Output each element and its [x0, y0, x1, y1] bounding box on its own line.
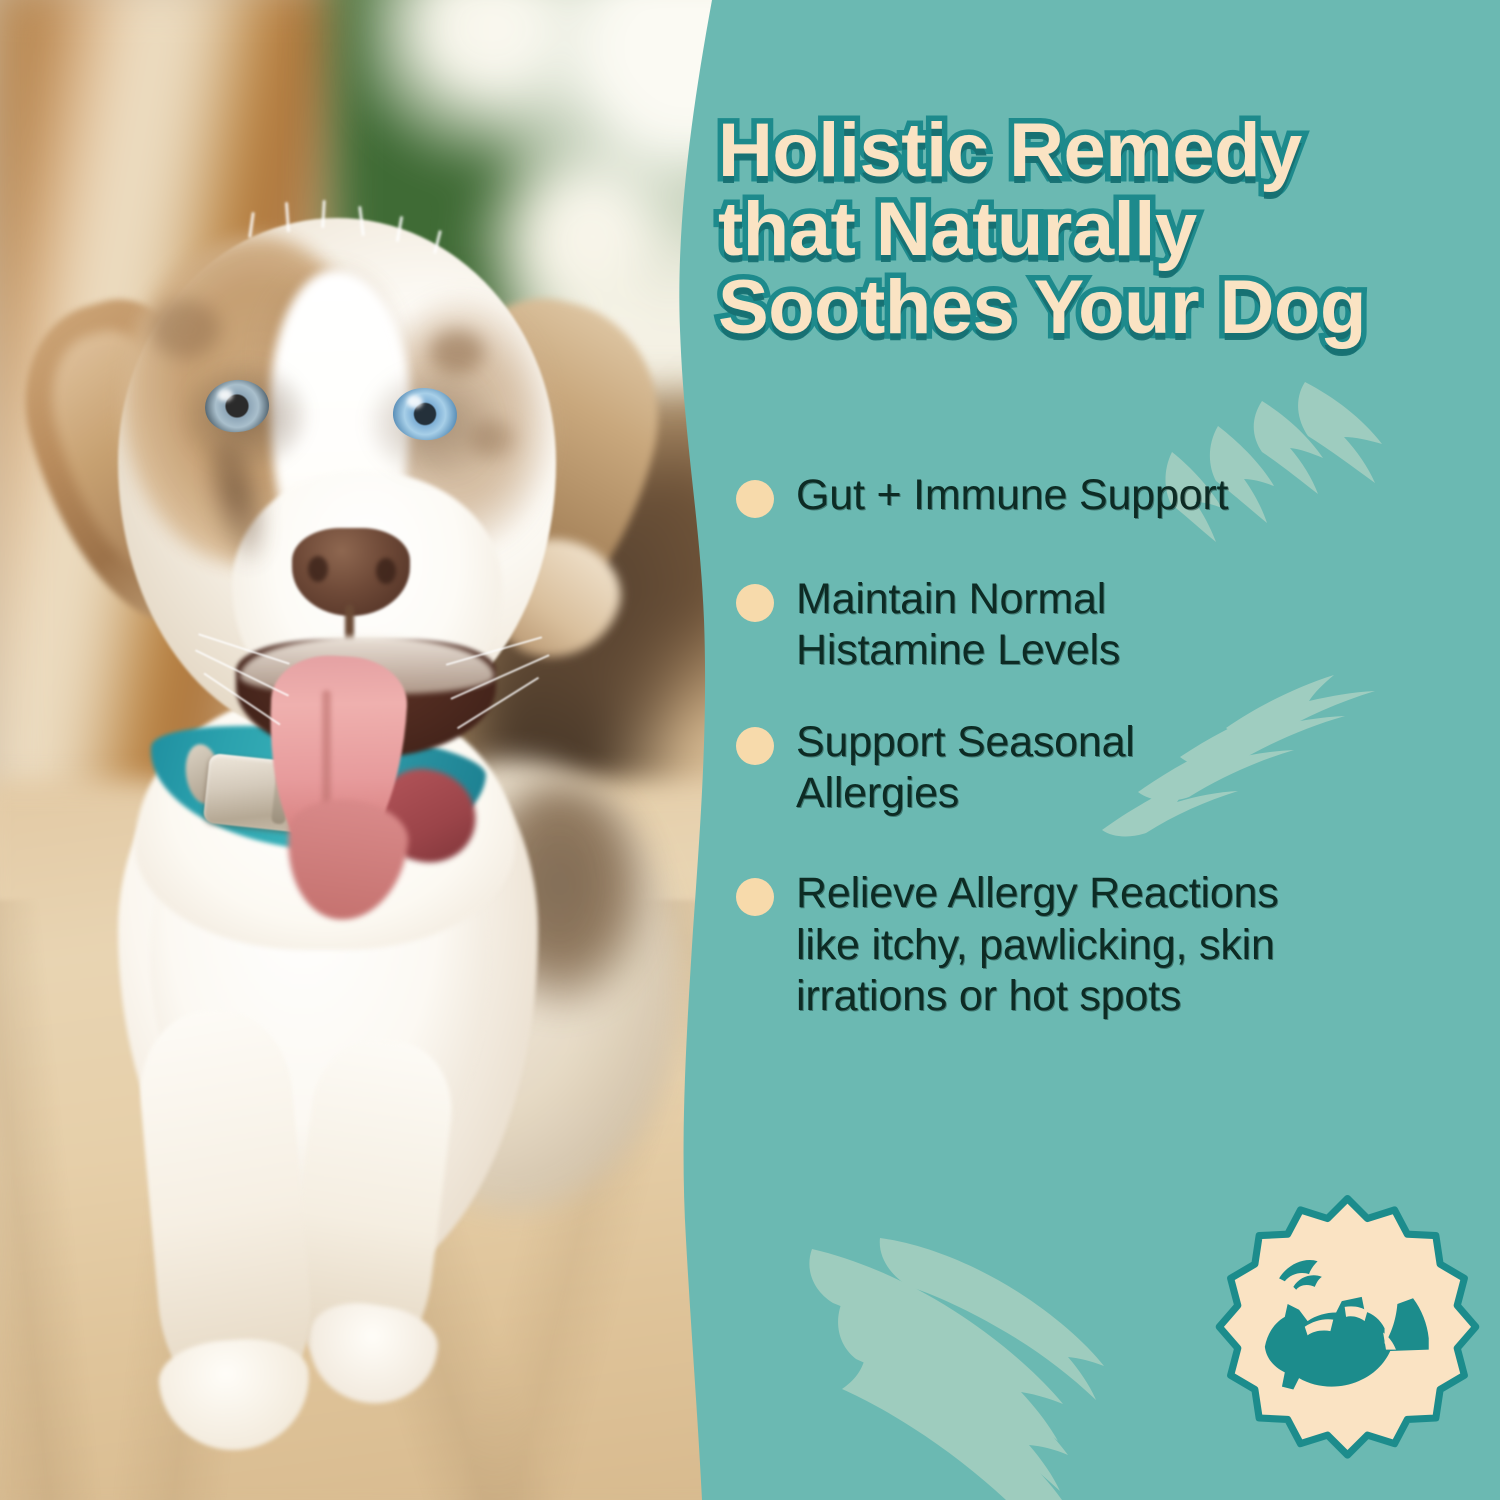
list-item-line: Relieve Allergy Reactions [796, 868, 1279, 920]
benefits-list: Gut + Immune Support Maintain Normal His… [736, 470, 1476, 1067]
bullet-dot-icon [736, 878, 774, 916]
page-title: Holistic Remedy that Naturally Soothes Y… [718, 112, 1486, 348]
list-item: Gut + Immune Support [736, 470, 1476, 522]
list-item-line: Maintain Normal [796, 574, 1120, 626]
list-item-line: Support Seasonal [796, 717, 1135, 769]
product-infographic: Holistic Remedy that Naturally Soothes Y… [0, 0, 1500, 1500]
list-item-line: irrations or hot spots [796, 971, 1279, 1023]
list-item-line: like itchy, pawlicking, skin [796, 920, 1279, 972]
headline-line-1: Holistic Remedy [718, 112, 1486, 191]
list-item-line: Gut + Immune Support [796, 470, 1228, 522]
list-item-text: Relieve Allergy Reactions like itchy, pa… [796, 868, 1279, 1023]
list-item: Relieve Allergy Reactions like itchy, pa… [736, 868, 1476, 1023]
list-item-text: Maintain Normal Histamine Levels [796, 574, 1120, 677]
headline-line-2: that Naturally [718, 191, 1486, 270]
bullet-dot-icon [736, 727, 774, 765]
list-item-line: Histamine Levels [796, 625, 1120, 677]
list-item-text: Gut + Immune Support [796, 470, 1228, 522]
list-item-text: Support Seasonal Allergies [796, 717, 1135, 820]
list-item: Maintain Normal Histamine Levels [736, 574, 1476, 677]
panel-content: Holistic Remedy that Naturally Soothes Y… [0, 0, 1500, 1500]
bullet-dot-icon [736, 480, 774, 518]
bullet-dot-icon [736, 584, 774, 622]
list-item: Support Seasonal Allergies [736, 717, 1476, 820]
list-item-line: Allergies [796, 768, 1135, 820]
dog-scratching-badge [1205, 1190, 1490, 1475]
headline-line-3: Soothes Your Dog [718, 269, 1486, 348]
